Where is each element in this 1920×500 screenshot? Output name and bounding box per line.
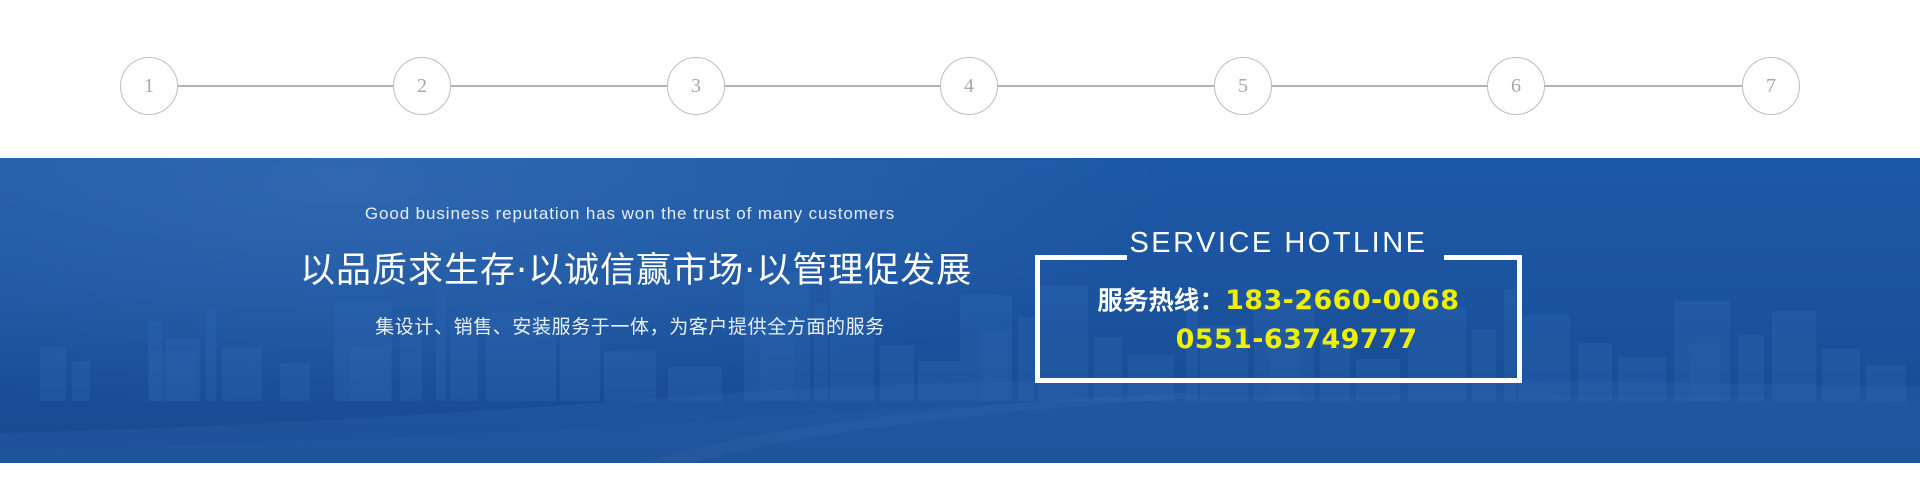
step-progress-bar: 1 2 3 4 5 6 7 bbox=[0, 0, 1920, 158]
step-circle-4[interactable]: 4 bbox=[940, 57, 998, 115]
step-circle-5[interactable]: 5 bbox=[1214, 57, 1272, 115]
step-label-7: 7 bbox=[1766, 76, 1776, 96]
hotline-box-border bbox=[1035, 255, 1522, 383]
hotline-banner: Good business reputation has won the tru… bbox=[0, 158, 1920, 463]
footer-whitespace bbox=[0, 463, 1920, 500]
hotline-border-left bbox=[1035, 255, 1040, 383]
step-progress-inner: 1 2 3 4 5 6 7 bbox=[120, 0, 1800, 158]
hotline-border-right bbox=[1517, 255, 1522, 383]
step-label-4: 4 bbox=[964, 76, 974, 96]
slogan-headline: 以品质求生存·以诚信赢市场·以管理促发展 bbox=[300, 242, 960, 293]
page-root: 1 2 3 4 5 6 7 bbox=[0, 0, 1920, 500]
hotline-border-bottom bbox=[1035, 378, 1522, 383]
slogan-subline: 集设计、销售、安装服务于一体，为客户提供全方面的服务 bbox=[300, 312, 960, 339]
step-label-1: 1 bbox=[144, 76, 154, 96]
step-circle-6[interactable]: 6 bbox=[1487, 57, 1545, 115]
step-circle-7[interactable]: 7 bbox=[1742, 57, 1800, 115]
hotline-label: 服务热线： bbox=[1098, 281, 1226, 317]
step-circle-2[interactable]: 2 bbox=[393, 57, 451, 115]
hotline-number-secondary[interactable]: 0551-63749777 bbox=[1035, 324, 1522, 355]
step-label-3: 3 bbox=[691, 76, 701, 96]
slogan-english: Good business reputation has won the tru… bbox=[300, 204, 960, 224]
hotline-number-primary[interactable]: 183-2660-0068 bbox=[1225, 285, 1459, 316]
step-circle-3[interactable]: 3 bbox=[667, 57, 725, 115]
slogan-block: Good business reputation has won the tru… bbox=[300, 204, 960, 339]
hotline-title: SERVICE HOTLINE bbox=[1035, 227, 1522, 260]
hotline-primary-row: 服务热线： 183-2660-0068 bbox=[1035, 281, 1522, 317]
step-label-6: 6 bbox=[1511, 76, 1521, 96]
service-hotline-box: SERVICE HOTLINE 服务热线： 183-2660-0068 0551… bbox=[1035, 255, 1522, 383]
step-label-5: 5 bbox=[1238, 76, 1248, 96]
banner-content: Good business reputation has won the tru… bbox=[0, 158, 1920, 463]
step-circle-1[interactable]: 1 bbox=[120, 57, 178, 115]
step-label-2: 2 bbox=[417, 76, 427, 96]
